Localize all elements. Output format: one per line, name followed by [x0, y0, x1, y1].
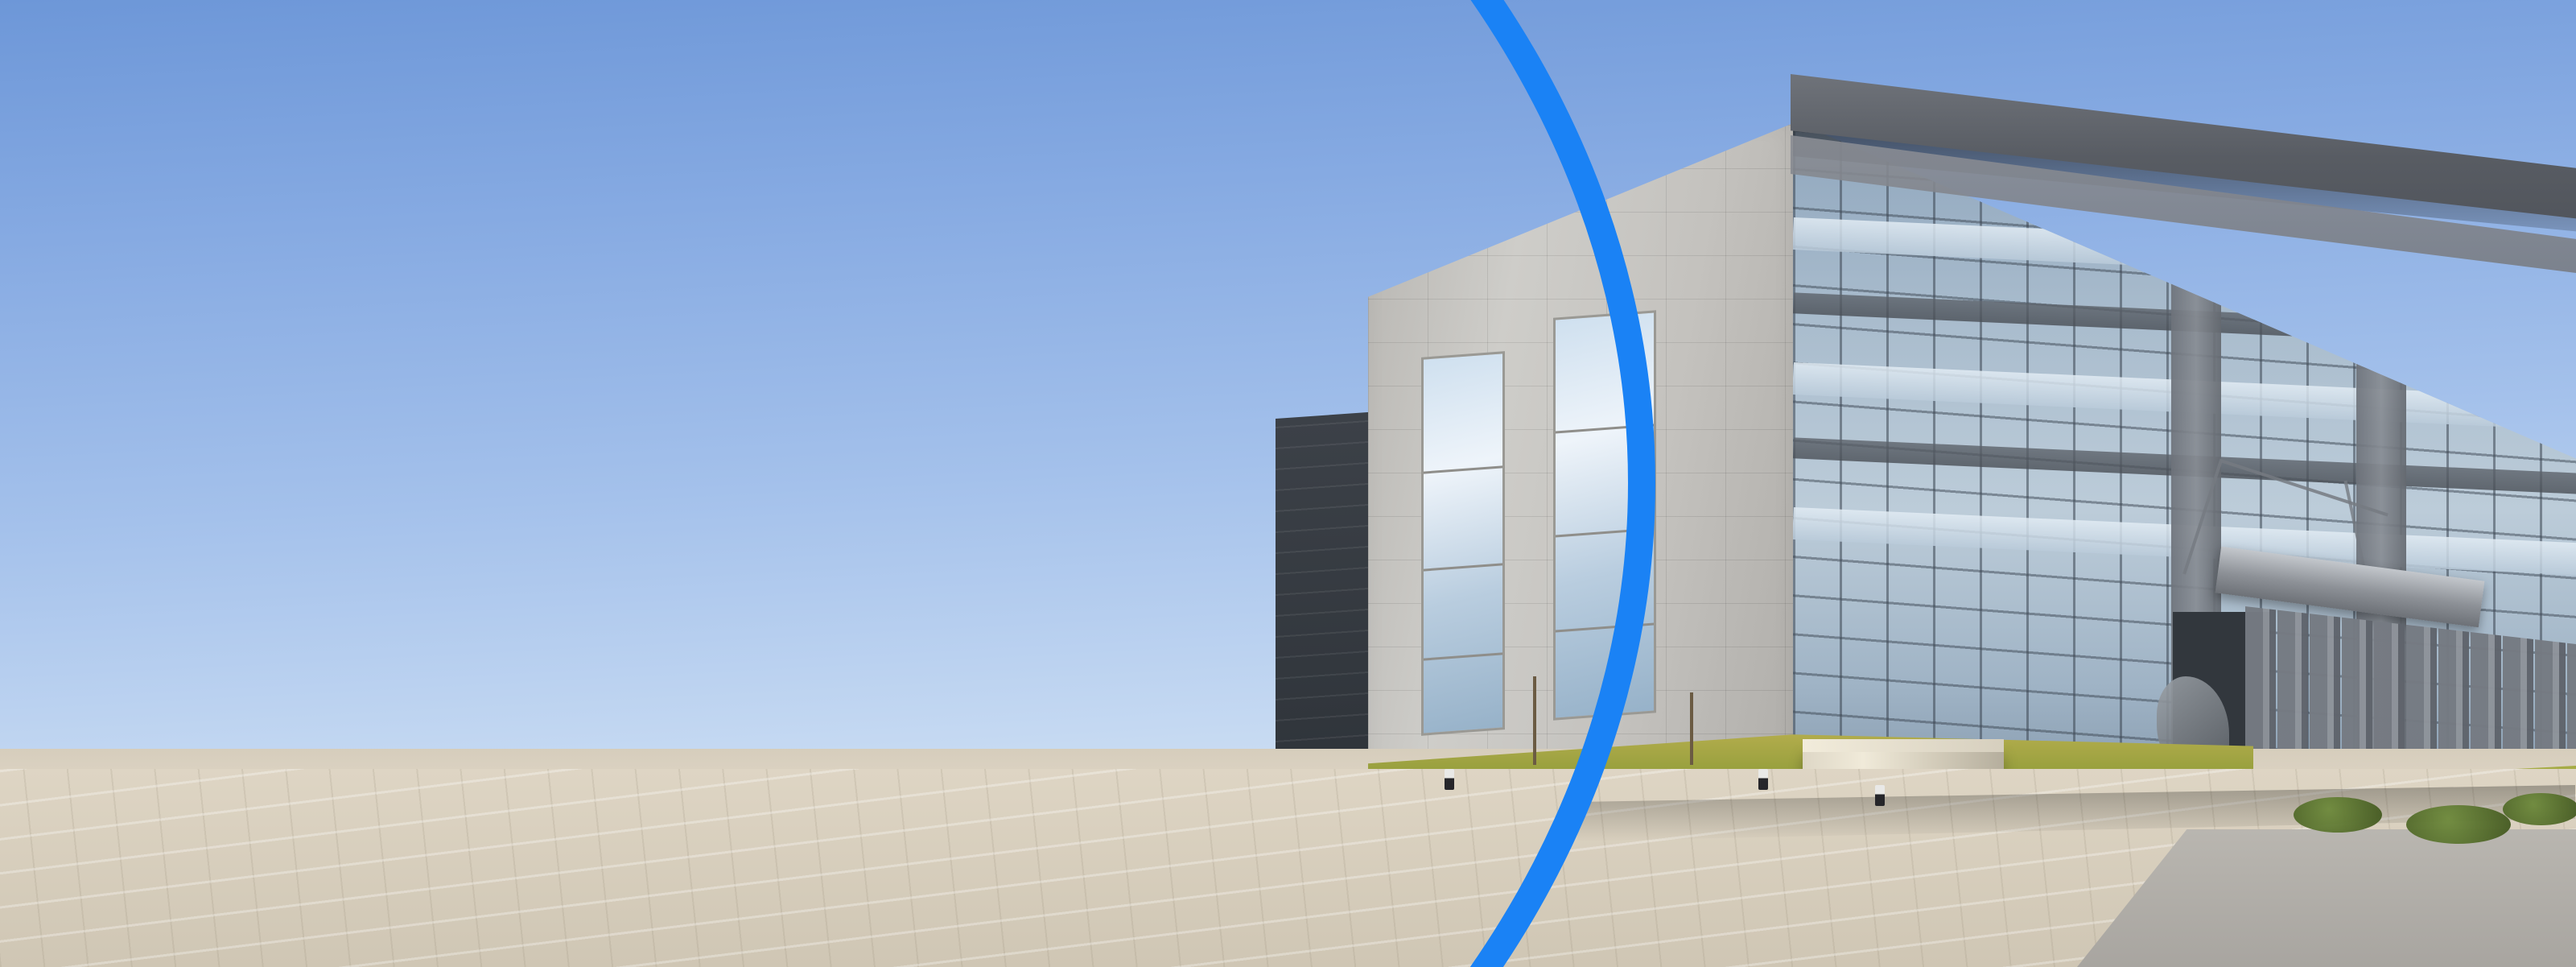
- shrub-3: [2503, 793, 2576, 825]
- landscape-light-1: [1445, 769, 1454, 790]
- landscape-light-3: [1758, 769, 1768, 790]
- shrub-1: [2294, 797, 2382, 833]
- company-promo-banner: 13 Years of Dedication Your One-Stop Bon…: [0, 0, 2576, 967]
- landscape-light-4: [1875, 785, 1885, 806]
- sapling-1: [1533, 676, 1536, 765]
- gable-window-right: [1553, 310, 1656, 720]
- building-scene: [0, 0, 2576, 967]
- landscape-light-2: [1577, 777, 1587, 798]
- gable-window-left: [1421, 351, 1505, 736]
- factory-office-building-photo: [0, 0, 2576, 967]
- shrub-2: [2406, 805, 2511, 844]
- sapling-2: [1690, 692, 1693, 765]
